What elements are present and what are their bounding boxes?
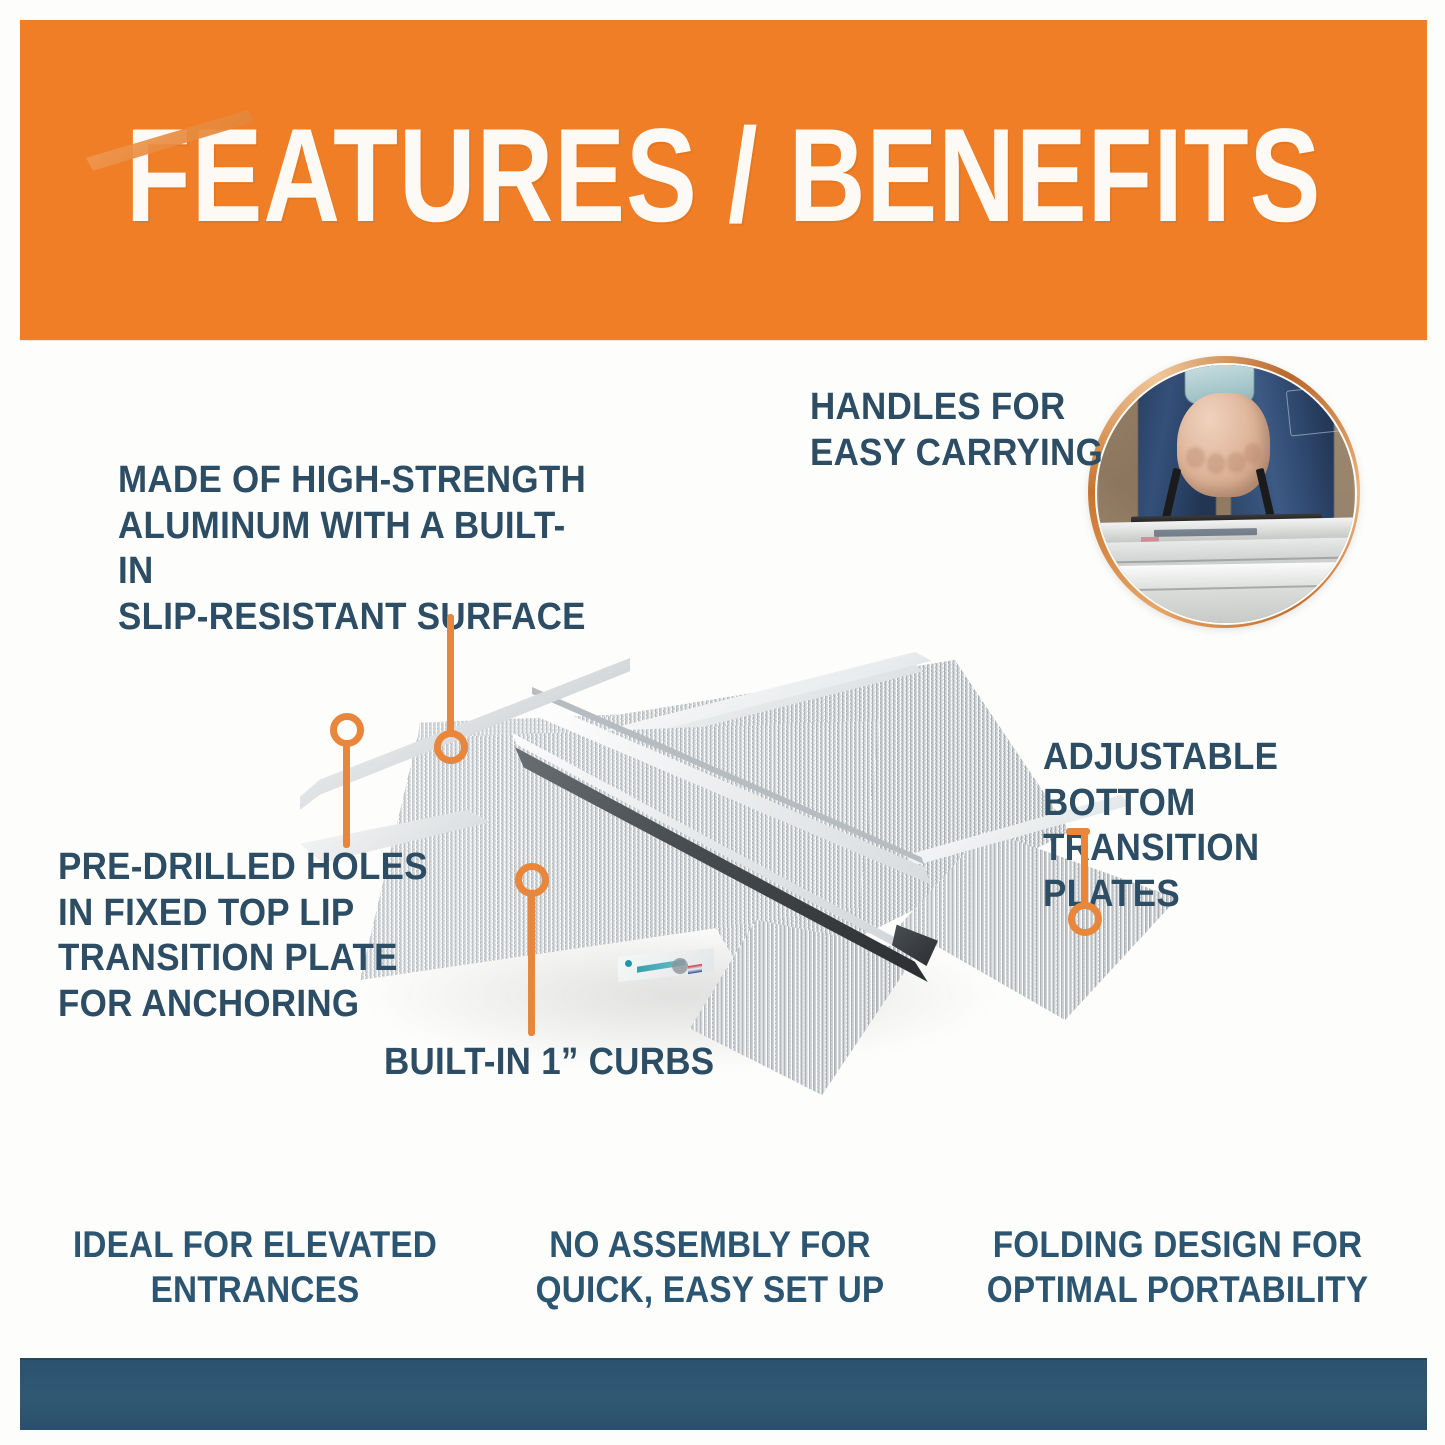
handle-photo-image xyxy=(1095,363,1357,625)
leader-line-transition xyxy=(1081,833,1088,909)
infographic-canvas: FEATURES / BENEFITS xyxy=(0,0,1445,1445)
feature-label-transition-plates: ADJUSTABLE BOTTOM TRANSITION PLATES xyxy=(1043,735,1393,917)
leader-line-predrilled xyxy=(343,740,350,848)
marker-ring-predrilled[interactable] xyxy=(330,713,364,747)
photo-hand xyxy=(1177,393,1270,496)
photo-knuckle xyxy=(1186,447,1205,468)
benefit-no-assembly: NO ASSEMBLY FOR QUICK, EASY SET UP xyxy=(521,1222,899,1312)
feature-label-built-in-curbs: BUILT-IN 1” CURBS xyxy=(384,1040,807,1086)
photo-knuckle xyxy=(1207,453,1226,474)
benefit-folding-design: FOLDING DESIGN FOR OPTIMAL PORTABILITY xyxy=(973,1222,1383,1312)
benefit-ideal-for-elevated-entrances: IDEAL FOR ELEVATED ENTRANCES xyxy=(62,1222,449,1312)
sticker-flag-icon xyxy=(688,964,702,974)
ce-mark-icon xyxy=(672,958,688,974)
handle-photo-inset xyxy=(1088,356,1360,628)
header-banner: FEATURES / BENEFITS xyxy=(20,20,1427,340)
marker-ring-aluminum[interactable] xyxy=(434,730,468,764)
feature-label-aluminum: MADE OF HIGH-STRENGTH ALUMINUM WITH A BU… xyxy=(118,458,596,640)
footer-bar xyxy=(20,1358,1427,1430)
photo-knuckle xyxy=(1227,452,1246,473)
page-title: FEATURES / BENEFITS xyxy=(161,20,1287,340)
feature-label-handles: HANDLES FOR EASY CARRYING xyxy=(810,385,1114,476)
benefits-row: IDEAL FOR ELEVATED ENTRANCES NO ASSEMBLY… xyxy=(40,1222,1405,1332)
photo-jeans-pocket xyxy=(1286,386,1342,437)
sticker-logo-dot xyxy=(625,960,632,967)
photo-knuckle xyxy=(1244,443,1261,464)
leader-line-aluminum xyxy=(447,614,454,736)
marker-ring-transition[interactable] xyxy=(1068,902,1102,936)
photo-ramp-body xyxy=(1095,561,1357,625)
leader-line-curbs xyxy=(528,890,535,1036)
feature-label-predrilled-holes: PRE-DRILLED HOLES IN FIXED TOP LIP TRANS… xyxy=(58,845,444,1027)
marker-ring-curbs[interactable] xyxy=(515,863,549,897)
